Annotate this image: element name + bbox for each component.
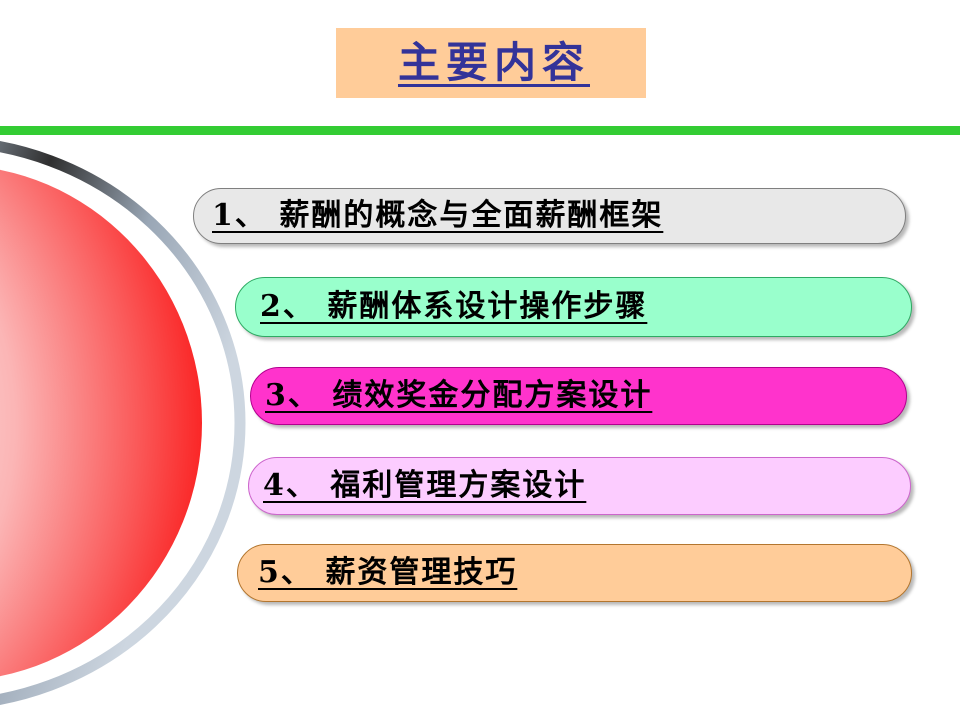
agenda-item-2-label: 2、 薪酬体系设计操作步骤	[236, 292, 647, 322]
agenda-item-4-label: 4、 福利管理方案设计	[249, 471, 586, 501]
agenda-item-3-label: 3、 绩效奖金分配方案设计	[251, 381, 652, 411]
agenda-item-4[interactable]: 4、 福利管理方案设计	[248, 457, 911, 515]
agenda-item-1[interactable]: 1、 薪酬的概念与全面薪酬框架	[193, 188, 906, 244]
green-divider	[0, 126, 960, 135]
agenda-item-5-label: 5、 薪资管理技巧	[238, 558, 517, 588]
agenda-item-1-label: 1、 薪酬的概念与全面薪酬框架	[194, 201, 663, 231]
agenda-item-5[interactable]: 5、 薪资管理技巧	[237, 544, 912, 602]
agenda-item-3[interactable]: 3、 绩效奖金分配方案设计	[250, 367, 907, 425]
red-gradient-ellipse	[0, 165, 202, 681]
agenda-item-2[interactable]: 2、 薪酬体系设计操作步骤	[235, 277, 912, 337]
slide-title-box: 主要内容	[336, 28, 646, 98]
slide-canvas: 主要内容 1、 薪酬的概念与全面薪酬框架 2、 薪酬体系设计操作步骤 3、 绩效…	[0, 0, 960, 720]
page-title: 主要内容	[392, 42, 590, 84]
